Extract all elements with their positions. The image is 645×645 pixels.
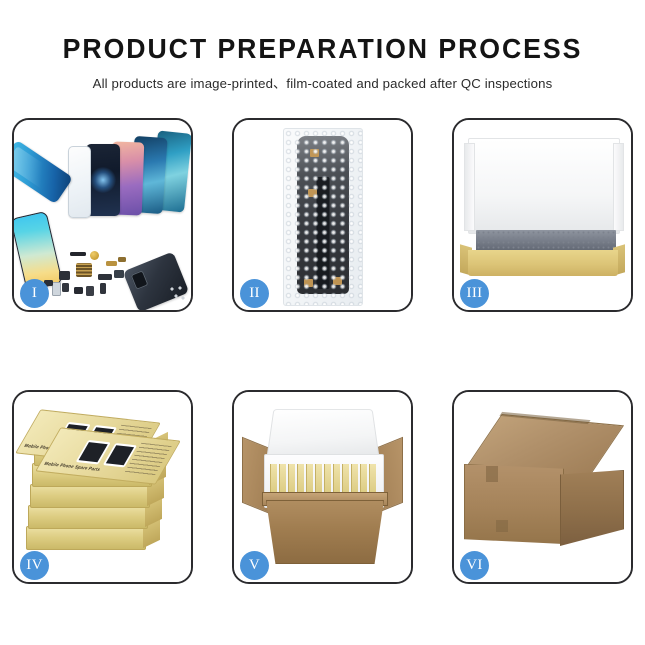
carton-front-face — [464, 464, 564, 544]
part-camera-icon — [74, 287, 83, 294]
wrapped-display-assembly-icon — [297, 136, 349, 294]
box-label-phone-images-front — [76, 440, 138, 467]
stacked-box-3 — [30, 484, 150, 508]
stacked-box-1 — [26, 526, 146, 550]
tape-tab-4-icon — [333, 277, 342, 285]
part-shield-icon — [114, 270, 124, 278]
step-panel-2: II — [232, 118, 413, 312]
part-connector-icon — [62, 283, 69, 292]
part-button-icon — [86, 286, 94, 296]
tape-tab-1-icon — [310, 149, 319, 157]
part-bracket-icon — [59, 271, 70, 280]
wrapped-flex-cable-icon — [316, 177, 329, 289]
white-foam-lid-icon — [468, 138, 620, 234]
step-badge-4: IV — [20, 551, 49, 580]
bubble-wrap-bag-icon — [283, 128, 363, 306]
step-panel-1: I — [12, 118, 193, 312]
step-badge-5: V — [240, 551, 269, 580]
part-ribbon-icon — [70, 252, 86, 256]
step-panel-3: III — [452, 118, 633, 312]
process-steps-grid: I II — [12, 118, 633, 584]
phone-tilted-icon — [14, 140, 73, 205]
box-stack-icon: Mobile Phone Spare Parts Mobile Phone Sp… — [22, 410, 187, 570]
part-chip-grid-icon — [76, 263, 92, 277]
part-gold-contact-icon — [106, 261, 117, 266]
part-antenna-icon — [118, 257, 126, 262]
part-module-icon — [100, 283, 106, 294]
stacked-box-2 — [28, 505, 148, 529]
part-flex-cable-icon — [98, 274, 112, 280]
part-speaker-icon — [90, 251, 99, 260]
page-subtitle: All products are image-printed、film-coat… — [0, 73, 645, 92]
page-title: PRODUCT PREPARATION PROCESS — [10, 34, 636, 64]
step-badge-1: I — [20, 279, 49, 308]
product-preparation-infographic: PRODUCT PREPARATION PROCESS All products… — [0, 0, 645, 645]
screws-icon — [169, 285, 187, 303]
header: PRODUCT PREPARATION PROCESS All products… — [0, 0, 645, 92]
phone-front-dark-icon — [86, 144, 120, 216]
grey-foam-insert-icon — [476, 230, 616, 252]
step-panel-5: V — [232, 390, 413, 584]
styrofoam-cooler-lid-icon — [266, 409, 380, 461]
step-panel-4: Mobile Phone Spare Parts Mobile Phone Sp… — [12, 390, 193, 584]
step-badge-2: II — [240, 279, 269, 308]
carton-tape-patch-2 — [496, 520, 508, 532]
step-badge-3: III — [460, 279, 489, 308]
part-sim-tray-icon — [52, 282, 61, 296]
carton-tape-patch-1 — [486, 466, 498, 482]
step-panel-6: VI — [452, 390, 633, 584]
yellow-box-front-icon — [468, 250, 618, 276]
tape-tab-3-icon — [304, 279, 313, 287]
carton-body-icon — [266, 500, 384, 564]
screen-glass-icon — [68, 146, 91, 218]
carton-side-face — [560, 470, 624, 546]
sealed-carton-icon — [464, 414, 622, 546]
tape-tab-2-icon — [308, 189, 317, 197]
step-badge-6: VI — [460, 551, 489, 580]
